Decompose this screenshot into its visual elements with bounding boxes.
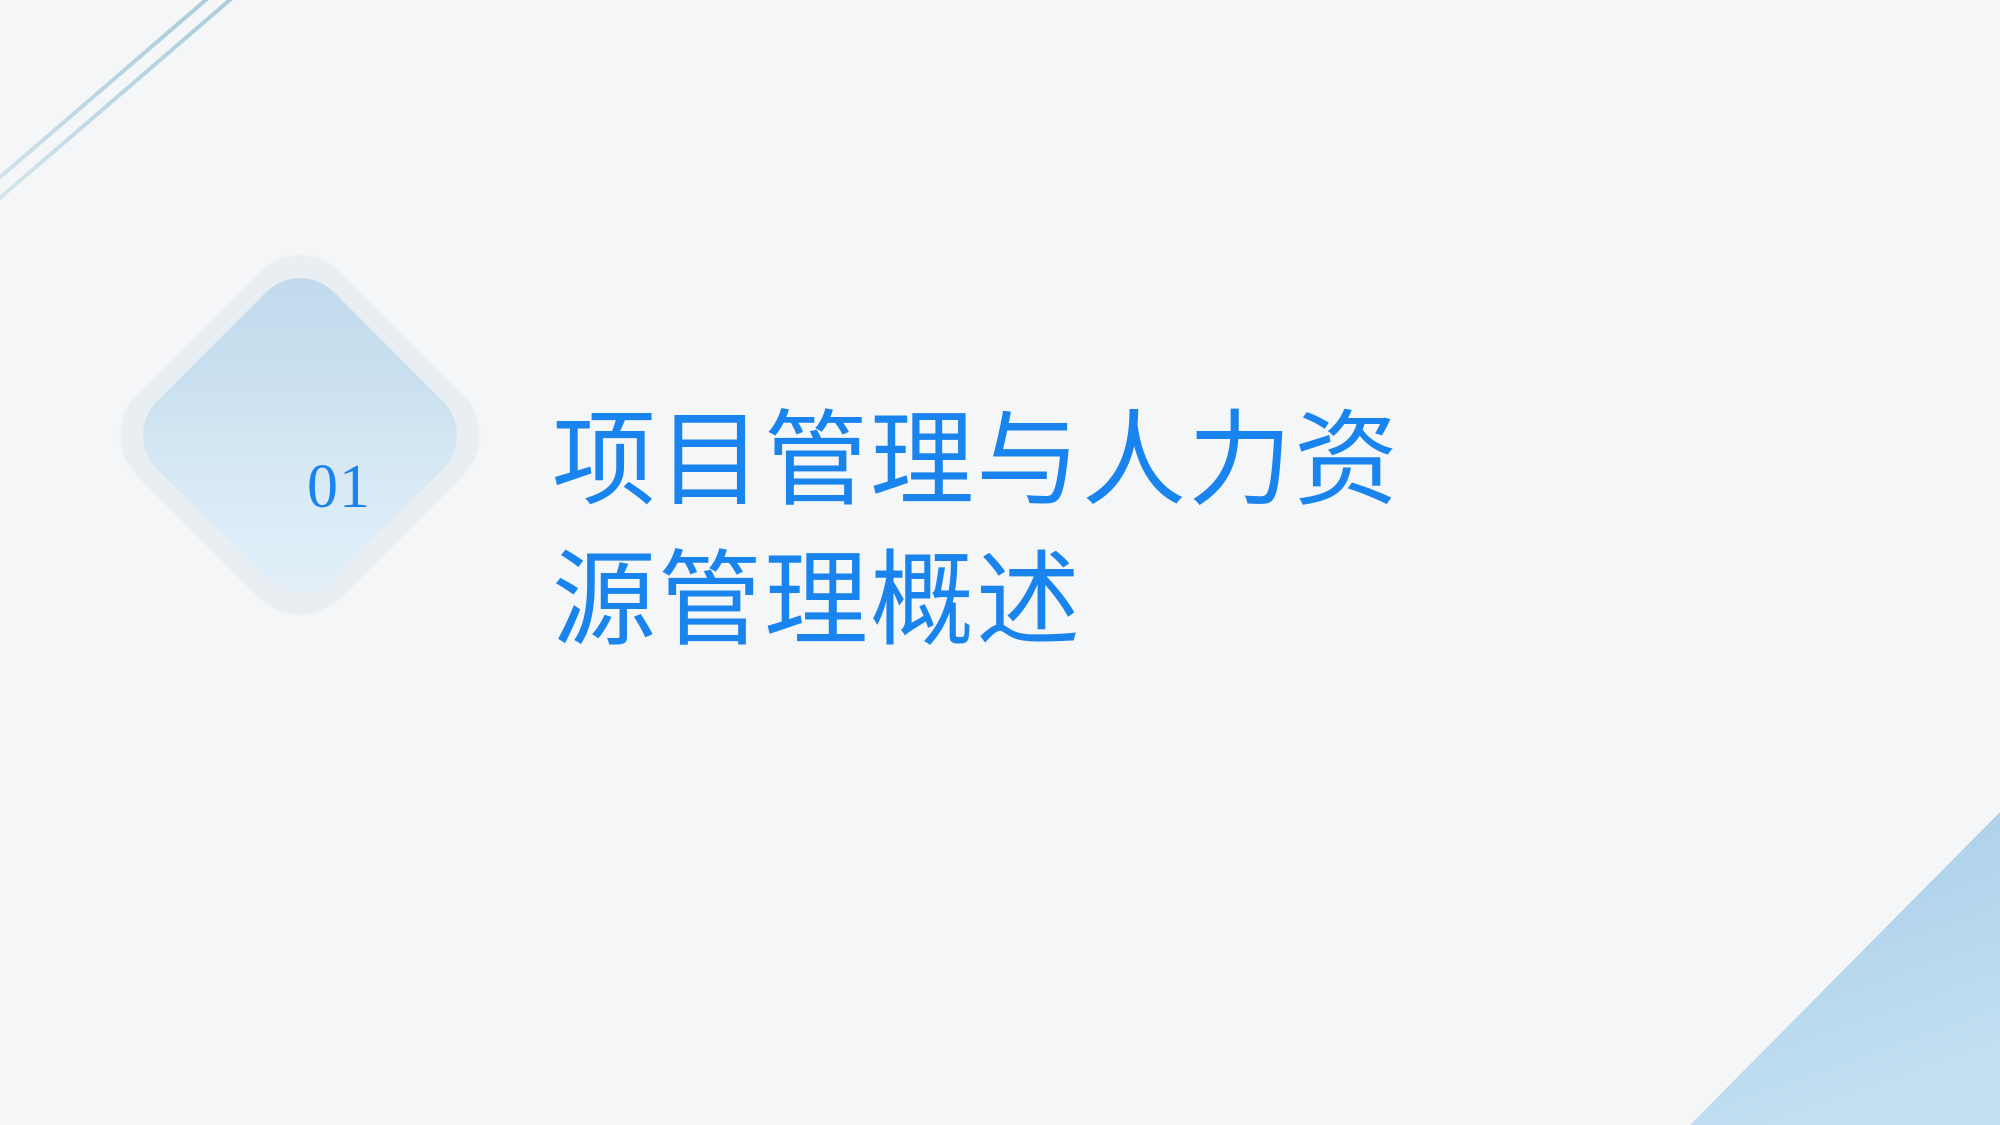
diagonal-stripe-pair bbox=[0, 0, 246, 222]
diagonal-stripe-inner bbox=[0, 0, 222, 222]
slide-canvas: 01 项目管理与人力资 源管理概述 bbox=[0, 0, 2000, 1125]
title-line-2: 源管理概述 bbox=[552, 532, 1552, 672]
diagonal-stripe-outer bbox=[0, 0, 246, 222]
section-number: 01 bbox=[88, 218, 512, 652]
corner-triangle bbox=[1690, 812, 2000, 1125]
section-number-badge: 01 bbox=[88, 218, 512, 652]
slide-title: 项目管理与人力资 源管理概述 bbox=[552, 392, 1552, 672]
title-line-1: 项目管理与人力资 bbox=[552, 392, 1552, 532]
